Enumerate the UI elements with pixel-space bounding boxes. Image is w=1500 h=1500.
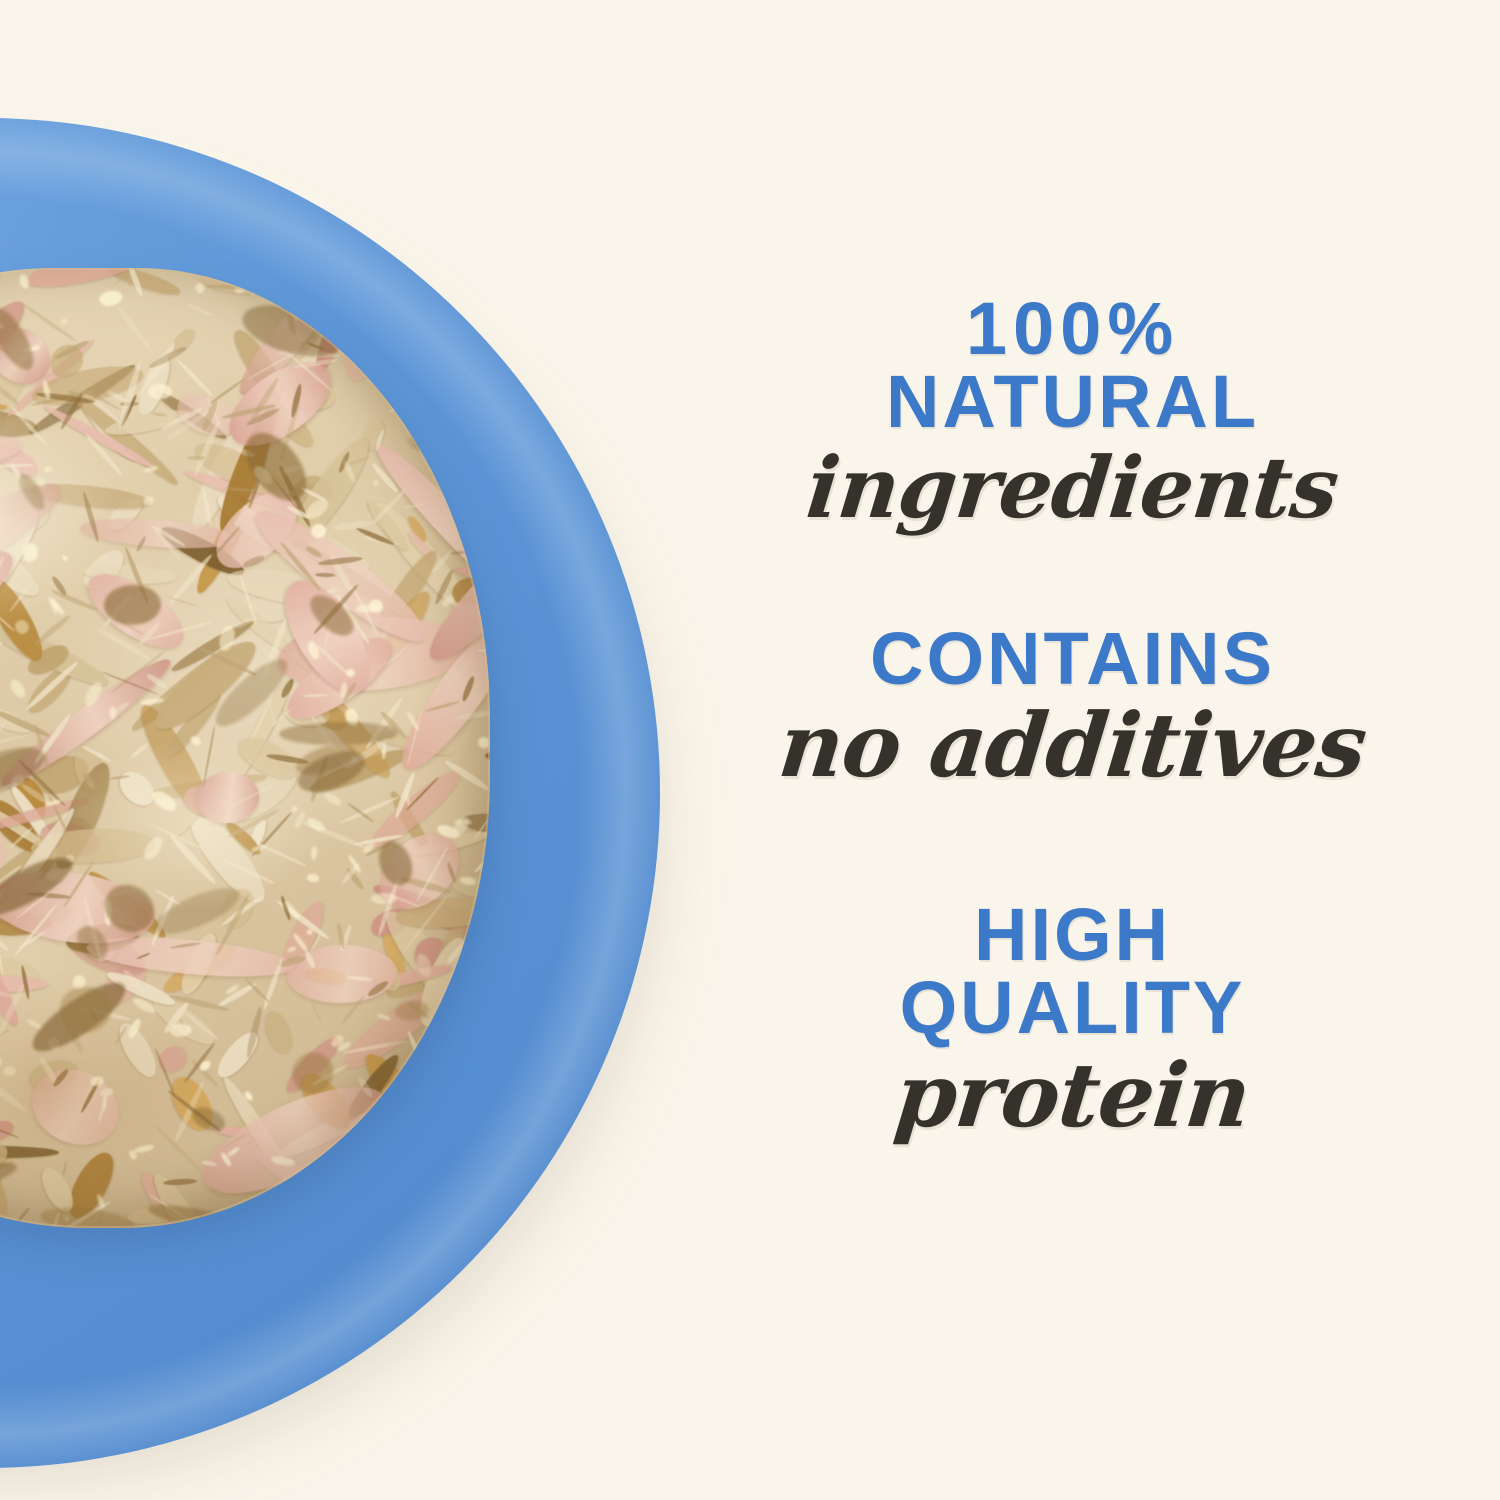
benefit-claims-column: 100% NATURAL ingredients CONTAINS no add… <box>760 0 1500 1500</box>
claim-0-kicker-line-2: NATURAL <box>760 365 1385 438</box>
product-photo <box>0 0 760 1500</box>
shredded-tuna-portion <box>0 268 490 1228</box>
claim-0-script: ingredients <box>755 443 1389 532</box>
food-body <box>0 268 490 1228</box>
claim-2-kicker-line-2: QUALITY <box>760 971 1385 1044</box>
claim-high-quality-protein: HIGH QUALITY protein <box>760 898 1385 1142</box>
claim-2-kicker-line-1: HIGH <box>760 898 1385 971</box>
product-benefits-banner: 100% NATURAL ingredients CONTAINS no add… <box>0 0 1500 1500</box>
claim-1-kicker-line-1: CONTAINS <box>760 622 1385 695</box>
claim-no-additives: CONTAINS no additives <box>760 622 1385 793</box>
claim-1-script: no additives <box>755 699 1390 792</box>
claim-natural-ingredients: 100% NATURAL ingredients <box>760 292 1385 532</box>
claim-2-script: protein <box>755 1049 1390 1142</box>
claim-0-kicker-line-1: 100% <box>760 292 1385 365</box>
